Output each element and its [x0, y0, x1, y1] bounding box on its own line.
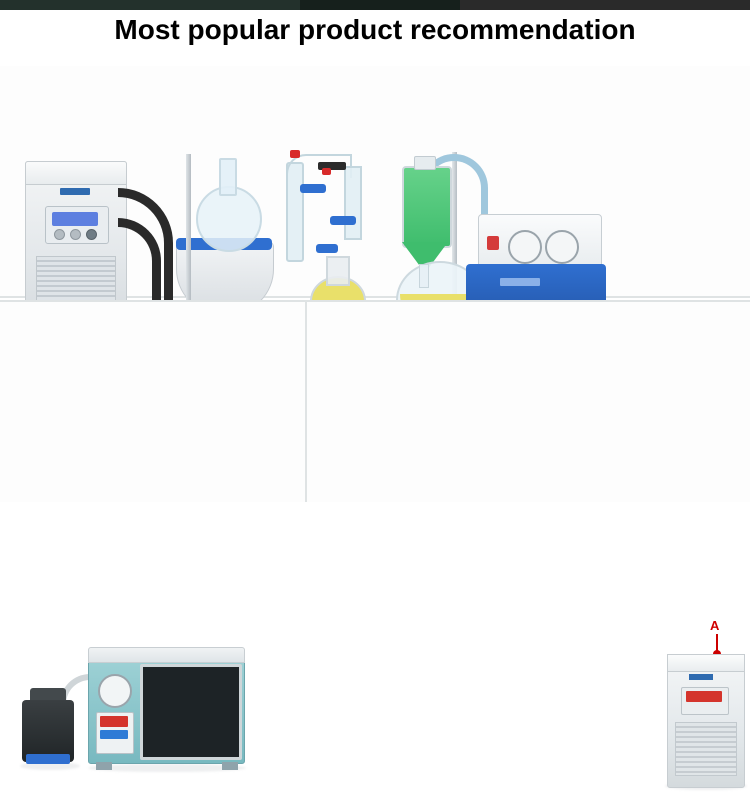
top-bar-segment-left — [0, 0, 300, 10]
recirculating-chiller-top — [25, 161, 127, 185]
vacuum-pump-base — [26, 754, 70, 764]
separatory-funnel-stem — [419, 264, 429, 288]
oven-foot-left — [96, 762, 112, 770]
top-bar-segment-right — [460, 0, 750, 10]
panel-bottom-right: A B — [307, 300, 750, 502]
vacuum-drying-oven-door — [140, 664, 242, 760]
vacuum-drying-oven-top — [88, 647, 245, 663]
water-bath-gauge-2 — [545, 230, 579, 264]
oven-pressure-gauge — [98, 674, 132, 708]
distillation-joint-clip-1 — [300, 184, 326, 193]
chiller-knob-3 — [86, 229, 97, 240]
vacuum-pump-body — [22, 700, 74, 762]
distillation-joint-clip-2 — [330, 216, 356, 225]
chiller-brand-badge-2 — [689, 674, 713, 680]
annotation-label-a: A — [710, 618, 719, 633]
distillation-flask-neck — [326, 256, 350, 286]
chiller-knob-2 — [70, 229, 81, 240]
top-bar-segment-middle — [300, 0, 460, 10]
panel-bottom-left — [0, 300, 307, 502]
chiller-display-screen — [52, 212, 98, 226]
product-recommendation-banner: Most popular product recommendation — [0, 0, 750, 500]
separatory-funnel-cap — [414, 156, 436, 170]
round-bottom-flask-neck — [219, 158, 237, 196]
water-bath-label — [500, 278, 540, 286]
water-bath-power-switch — [487, 236, 499, 250]
oven-display-primary — [100, 716, 128, 727]
distillation-joint-clip-3 — [316, 244, 338, 253]
page-title: Most popular product recommendation — [0, 14, 750, 46]
annotation-pointer-a — [716, 634, 718, 652]
water-bath-gauge-1 — [508, 230, 542, 264]
distillation-red-cap-1 — [290, 150, 300, 158]
support-rod — [186, 154, 191, 314]
recirculating-chiller-top-2 — [667, 654, 745, 672]
distillation-condenser-tube — [344, 166, 362, 240]
chiller-vent-grille-2 — [675, 722, 737, 776]
chiller-brand-badge — [60, 188, 90, 195]
distillation-red-cap-2 — [322, 168, 331, 175]
panel-main — [0, 66, 750, 296]
oven-foot-right — [222, 762, 238, 770]
chiller-knob-1 — [54, 229, 65, 240]
oven-display-secondary — [100, 730, 128, 739]
separatory-funnel-body — [402, 166, 452, 248]
chiller-display-screen-2 — [686, 691, 722, 702]
top-dark-bar — [0, 0, 750, 10]
